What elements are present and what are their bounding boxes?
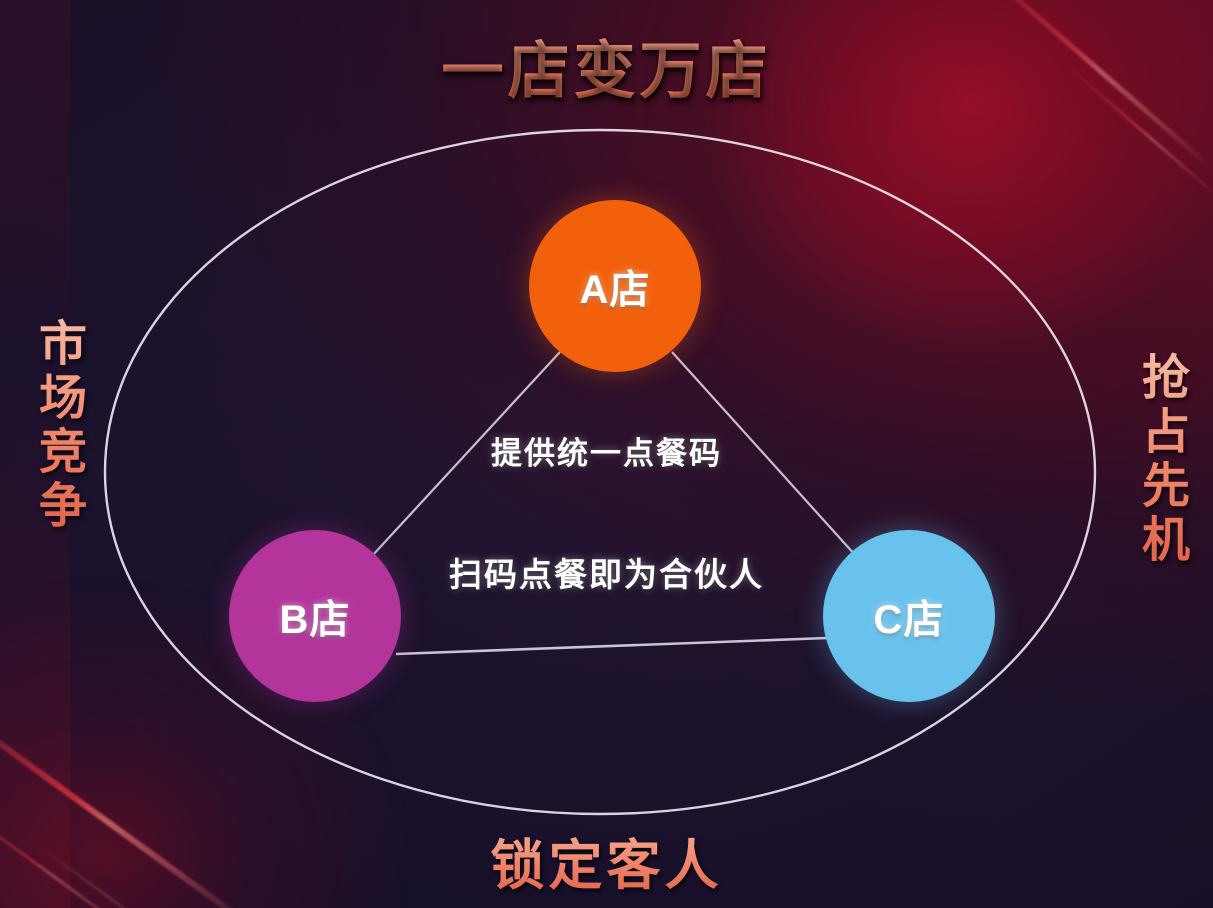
node-store-a[interactable]: A店 — [529, 200, 701, 372]
center-caption-secondary: 扫码点餐即为合伙人 — [0, 548, 1213, 596]
node-store-a-label: A店 — [580, 257, 651, 315]
edge-b-to-c — [396, 638, 827, 654]
bottom-label: 锁定客人 — [0, 821, 1213, 900]
slide-canvas: 一店变万店 市场竞争 抢占先机 A店 B店 C店 提供统一点餐码 扫码点餐即为合… — [0, 0, 1213, 908]
center-caption-primary: 提供统一点餐码 — [0, 428, 1213, 473]
